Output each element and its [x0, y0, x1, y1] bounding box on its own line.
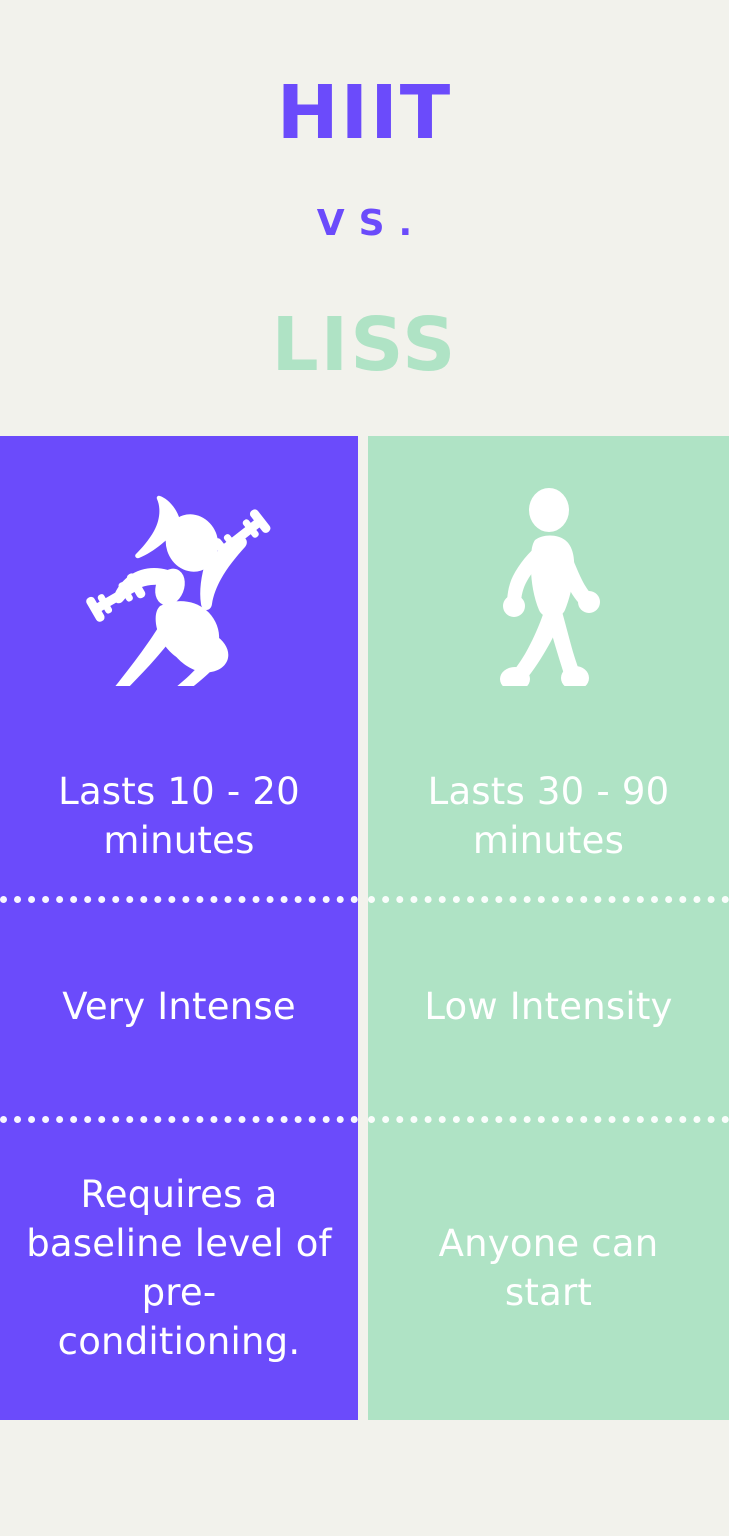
liss-intensity-text: Low Intensity [424, 982, 672, 1031]
hiit-intensity-text: Very Intense [62, 982, 296, 1031]
comparison-column-liss: Lasts 30 - 90 minutes Low Intensity Anyo… [368, 436, 729, 1420]
running-figure-with-dumbbells-icon [84, 486, 274, 686]
page-title-hiit: HIIT [0, 76, 729, 150]
liss-icon-cell [368, 436, 729, 736]
header: HIIT VS. LISS [0, 0, 729, 436]
comparison-table: Lasts 10 - 20 minutes Very Intense Requi… [0, 436, 729, 1420]
liss-requirement-text: Anyone can start [390, 1219, 707, 1317]
walking-person-icon [489, 486, 609, 686]
liss-duration-text: Lasts 30 - 90 minutes [390, 767, 707, 865]
liss-duration-row: Lasts 30 - 90 minutes [368, 736, 729, 896]
title-separator-vs: VS. [0, 204, 729, 244]
hiit-duration-row: Lasts 10 - 20 minutes [0, 736, 358, 896]
liss-intensity-row: Low Intensity [368, 896, 729, 1116]
hiit-intensity-row: Very Intense [0, 896, 358, 1116]
hiit-icon-cell [0, 436, 358, 736]
page-title-liss: LISS [0, 308, 729, 382]
hiit-requirement-row: Requires a baseline level of pre-conditi… [0, 1116, 358, 1420]
comparison-column-hiit: Lasts 10 - 20 minutes Very Intense Requi… [0, 436, 358, 1420]
infographic-root: HIIT VS. LISS [0, 0, 729, 1536]
hiit-duration-text: Lasts 10 - 20 minutes [22, 767, 336, 865]
liss-requirement-row: Anyone can start [368, 1116, 729, 1420]
hiit-requirement-text: Requires a baseline level of pre-conditi… [22, 1170, 336, 1366]
